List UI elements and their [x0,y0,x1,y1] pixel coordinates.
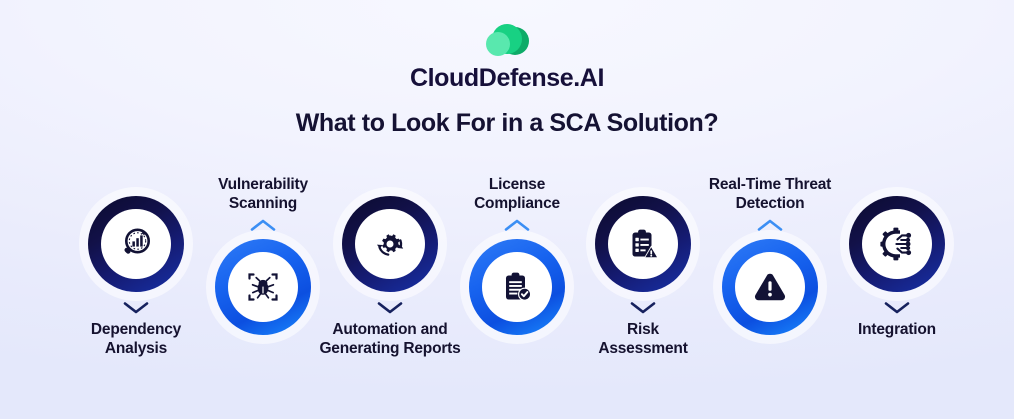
icon-badge-vulnerability-scanning[interactable] [215,239,311,335]
magnifier-bar-chart-icon [116,224,156,264]
step-integration[interactable]: Integration [802,196,992,339]
page-title: What to Look For in a SCA Solution? [0,111,1014,136]
badge-disc [735,252,805,322]
clipboard-check-icon [497,267,537,307]
step-label: Integration [802,320,992,339]
badge-disc [608,209,678,279]
chevron-down-icon [122,300,150,315]
badge-disc [101,209,171,279]
badge-disc [355,209,425,279]
chevron-down-icon [376,300,404,315]
gear-circuit-icon [877,224,917,264]
gear-refresh-icon [370,224,410,264]
badge-disc [862,209,932,279]
header: CloudDefense.AI What to Look For in a SC… [0,22,1014,136]
badge-disc [482,252,552,322]
icon-badge-integration[interactable] [849,196,945,292]
chevron-down-icon [883,300,911,315]
icon-badge-automation-and-generating-reports[interactable] [342,196,438,292]
brand-name: CloudDefense.AI [0,66,1014,91]
clouddefense-logo-icon [479,22,535,60]
badge-disc [228,252,298,322]
infographic-canvas: CloudDefense.AI What to Look For in a SC… [0,0,1014,419]
warning-triangle-icon [750,267,790,307]
clipboard-warning-icon [623,224,663,264]
chevron-down-icon [629,300,657,315]
icon-badge-risk-assessment[interactable] [595,196,691,292]
bug-scan-icon [243,267,283,307]
icon-badge-dependency-analysis[interactable] [88,196,184,292]
icon-badge-real-time-threat-detection[interactable] [722,239,818,335]
icon-badge-license-compliance[interactable] [469,239,565,335]
